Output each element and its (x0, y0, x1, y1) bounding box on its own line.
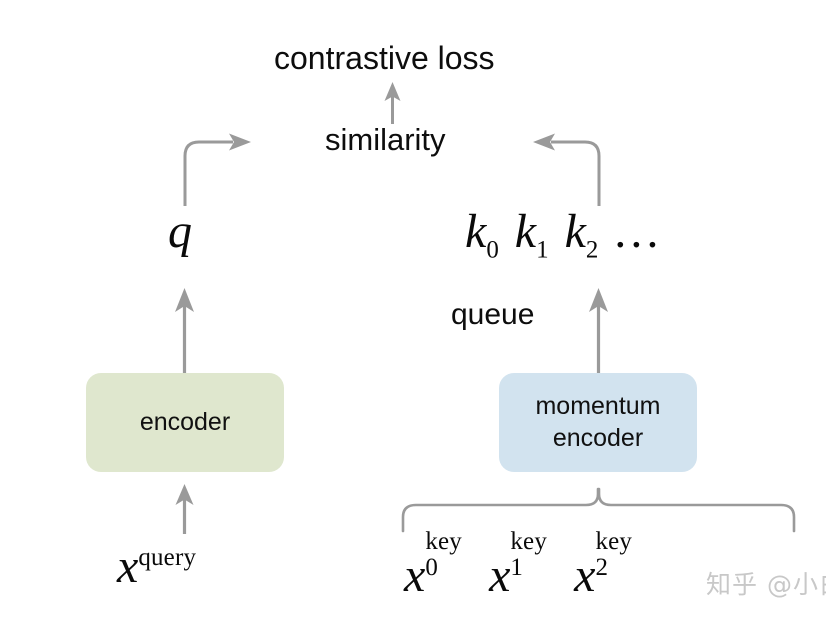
key-symbol-0-subscript: 0 (486, 237, 498, 264)
key-input-0-subscript: 0 (425, 556, 437, 581)
momentum-encoder-label-line2: encoder (553, 424, 643, 452)
key-input-1-subscript: 1 (510, 556, 522, 581)
key-symbol-2: k2 (565, 205, 599, 258)
momentum-encoder-box[interactable]: momentumencoder (499, 373, 697, 472)
query-symbol-text: q (168, 205, 192, 258)
key-input-1-superscript: key (510, 530, 547, 555)
momentum-encoder-box-label: momentumencoder (535, 391, 660, 454)
key-input-0-superscript: key (425, 530, 462, 555)
query-input-to-encoder-arrow (172, 484, 198, 534)
key-input-2-base: x (574, 549, 595, 602)
contrastive-loss-label: contrastive loss (274, 42, 495, 74)
query-input-superscript: query (138, 544, 196, 571)
key-inputs-brace (400, 487, 804, 531)
similarity-to-loss-arrow (380, 82, 406, 124)
query-input-base: x (117, 540, 138, 593)
momentum-encoder-label-line1: momentum (535, 392, 660, 420)
key-symbol-2-base: k (565, 205, 586, 258)
key-symbol-2-subscript: 2 (586, 237, 598, 264)
key-symbol-1: k1 (515, 205, 549, 258)
key-input-2: xkey2 (574, 549, 625, 602)
momentum-encoder-to-keys-arrow (586, 288, 612, 374)
key-input-0-base: x (404, 549, 425, 602)
key-input-2-subscript: 2 (595, 556, 607, 581)
encoder-to-query-arrow (172, 288, 198, 374)
encoder-box-label: encoder (140, 407, 230, 438)
watermark: 知乎 @小白 (706, 565, 826, 601)
figure-canvas: contrastive loss similarity q k0k1k2… qu… (0, 0, 826, 634)
key-symbol-0-base: k (465, 205, 486, 258)
key-input-1: xkey1 (489, 549, 540, 602)
query-symbol: q (168, 208, 192, 256)
key-input-2-superscript: key (595, 530, 632, 555)
queue-label: queue (451, 300, 534, 330)
key-inputs-row: xkey0xkey1xkey2 (404, 543, 625, 600)
query-to-similarity-arrow (175, 128, 257, 206)
keys-to-similarity-arrow (527, 128, 609, 206)
key-input-0: xkey0 (404, 549, 455, 602)
key-symbols-ellipsis: … (612, 205, 660, 258)
key-symbol-0: k0 (465, 205, 499, 258)
key-symbol-1-subscript: 1 (536, 237, 548, 264)
encoder-box[interactable]: encoder (86, 373, 284, 472)
key-symbol-1-base: k (515, 205, 536, 258)
query-input-label: xquery (117, 543, 196, 591)
key-symbols-row: k0k1k2… (465, 208, 660, 264)
key-input-1-base: x (489, 549, 510, 602)
similarity-label: similarity (325, 124, 446, 155)
